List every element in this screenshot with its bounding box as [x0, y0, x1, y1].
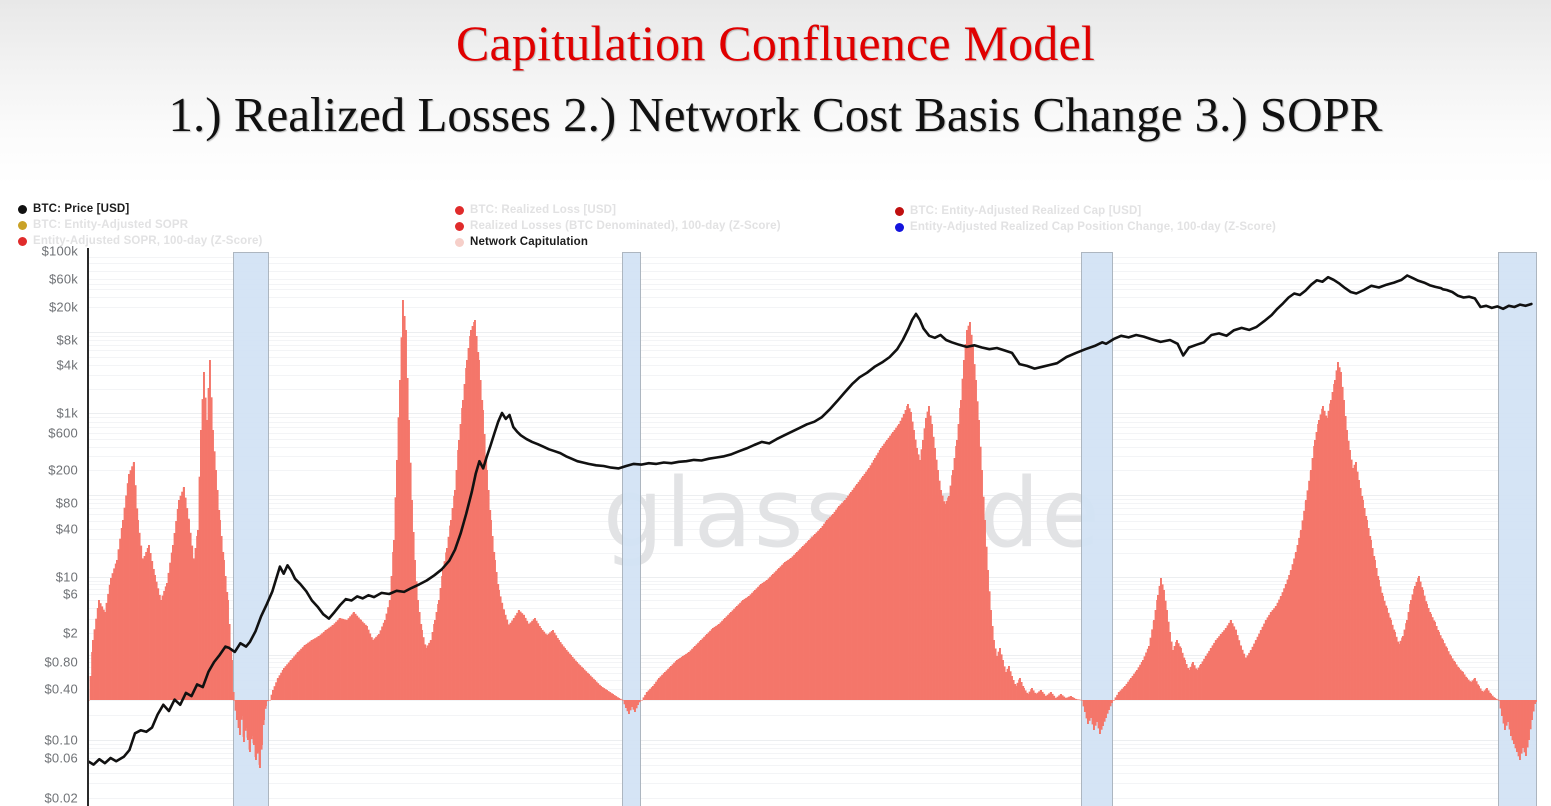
legend-item[interactable]: BTC: Price [USD] [18, 201, 263, 217]
y-axis-line [87, 248, 89, 806]
legend-item-label: BTC: Entity-Adjusted Realized Cap [USD] [910, 205, 1141, 217]
y-axis-tick-label: $0.80 [44, 655, 78, 670]
legend-swatch-icon [455, 222, 464, 231]
title-block: Capitulation Confluence Model 1.) Realiz… [0, 0, 1551, 185]
legend-item-label: BTC: Realized Loss [USD] [470, 204, 616, 216]
legend-item[interactable]: Network Capitulation [455, 234, 781, 250]
legend-column-3: BTC: Entity-Adjusted Realized Cap [USD]E… [895, 203, 1276, 235]
y-axis-tick-label: $4k [56, 358, 78, 373]
legend-swatch-icon [18, 221, 27, 230]
legend-item-label: Entity-Adjusted Realized Cap Position Ch… [910, 221, 1276, 233]
y-axis-tick-label: $1k [56, 406, 78, 421]
y-axis-tick-label: $0.02 [44, 791, 78, 806]
legend-swatch-icon [895, 207, 904, 216]
y-axis-tick-label: $80 [56, 496, 78, 511]
legend-swatch-icon [455, 238, 464, 247]
y-axis-tick-label: $10 [56, 570, 78, 585]
y-axis-tick-label: $6 [63, 587, 78, 602]
y-axis-tick-label: $0.10 [44, 733, 78, 748]
legend-item[interactable]: BTC: Entity-Adjusted Realized Cap [USD] [895, 203, 1276, 219]
y-axis-tick-label: $100k [42, 244, 78, 259]
page-title: Capitulation Confluence Model [0, 18, 1551, 68]
chart-plot-area[interactable]: glassnode [88, 252, 1537, 806]
legend-swatch-icon [18, 205, 27, 214]
chart-legend: BTC: Price [USD]BTC: Entity-Adjusted SOP… [0, 196, 1551, 254]
legend-item[interactable]: BTC: Entity-Adjusted SOPR [18, 217, 263, 233]
legend-item-label: BTC: Entity-Adjusted SOPR [33, 219, 188, 231]
y-axis-tick-label: $8k [56, 333, 78, 348]
btc-price-line-series [88, 252, 1537, 806]
legend-column-2: BTC: Realized Loss [USD]Realized Losses … [455, 202, 781, 250]
legend-item-label: Network Capitulation [470, 236, 588, 248]
y-axis-tick-label: $40 [56, 522, 78, 537]
legend-swatch-icon [895, 223, 904, 232]
legend-swatch-icon [455, 206, 464, 215]
y-axis-tick-label: $0.40 [44, 682, 78, 697]
price-line-path [88, 276, 1531, 765]
legend-item-label: BTC: Price [USD] [33, 203, 129, 215]
y-axis-tick-label: $2 [63, 626, 78, 641]
page-subtitle: 1.) Realized Losses 2.) Network Cost Bas… [0, 90, 1551, 139]
legend-item[interactable]: Realized Losses (BTC Denominated), 100-d… [455, 218, 781, 234]
y-axis-tick-label: $0.06 [44, 751, 78, 766]
legend-item[interactable]: Entity-Adjusted Realized Cap Position Ch… [895, 219, 1276, 235]
y-axis: $100k$60k$20k$8k$4k$1k$600$200$80$40$10$… [0, 240, 84, 806]
legend-item-label: Realized Losses (BTC Denominated), 100-d… [470, 220, 781, 232]
y-axis-tick-label: $60k [49, 272, 78, 287]
legend-item[interactable]: BTC: Realized Loss [USD] [455, 202, 781, 218]
y-axis-tick-label: $600 [48, 426, 78, 441]
y-axis-tick-label: $200 [48, 463, 78, 478]
y-axis-tick-label: $20k [49, 300, 78, 315]
